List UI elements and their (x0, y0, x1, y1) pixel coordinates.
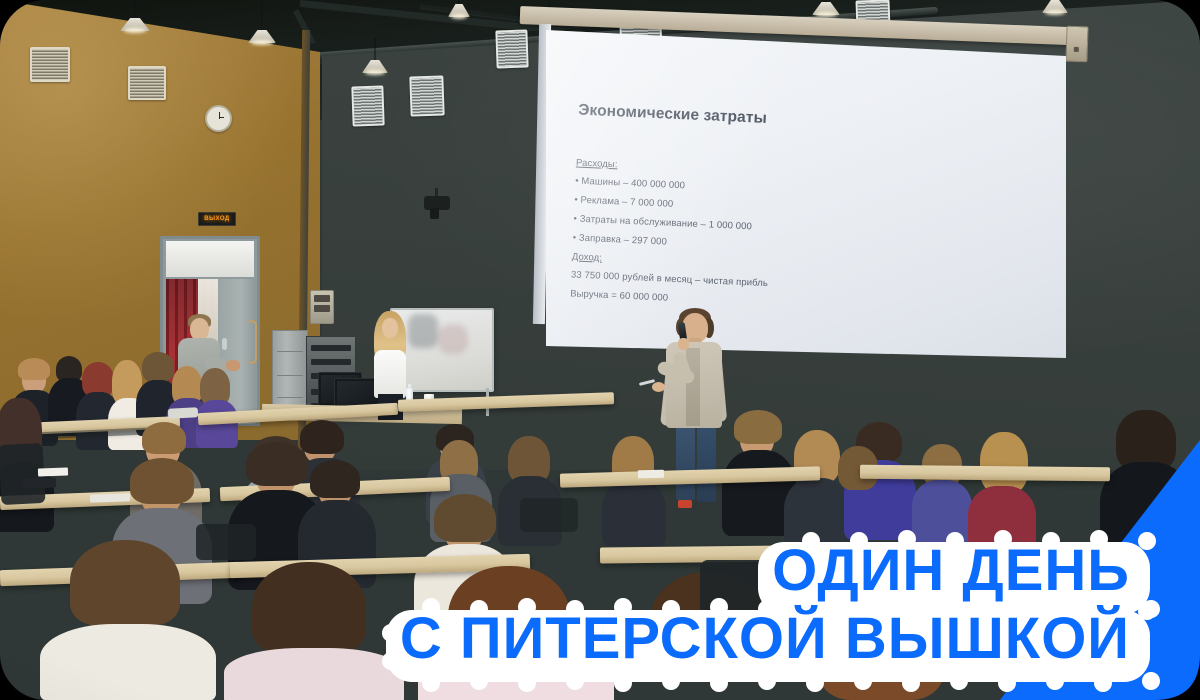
wall-vent-icon (128, 66, 166, 100)
marker-icon (678, 500, 692, 508)
wall-vent-icon (351, 85, 384, 126)
presenter-hand (678, 338, 689, 350)
wall-vent-icon (495, 29, 528, 68)
presenter-jacket-placket (686, 348, 700, 426)
wall-speaker-box (310, 290, 334, 324)
door-pull-bar[interactable] (247, 320, 257, 364)
seat-back (196, 524, 256, 560)
ceiling-projector-icon (424, 196, 450, 210)
presenter-leg (676, 420, 695, 500)
screen-roller-endcap (1065, 26, 1088, 63)
paper-sheet (90, 493, 130, 502)
slide-title: Экономические затраты (578, 102, 767, 128)
wall-clock-icon (205, 105, 232, 132)
slide-body: Расходы: • Машины – 400 000 000 • Реклам… (570, 157, 996, 326)
wall-vent-icon (30, 47, 70, 82)
door-handle-icon[interactable] (222, 338, 227, 350)
presenter-hand (652, 382, 665, 392)
screenshot-root: ВЫХОД Экономические затраты Расходы: • М… (0, 0, 1200, 700)
paper-sheet (638, 470, 664, 478)
slide-content: Экономические затраты Расходы: • Машины … (531, 28, 1065, 381)
seat-back (700, 560, 810, 620)
photo-frame: ВЫХОД Экономические затраты Расходы: • М… (0, 0, 1200, 700)
seat-back (520, 498, 578, 532)
standing-student-hand (226, 360, 240, 371)
seat-back (904, 548, 1024, 604)
paper-sheet (38, 467, 68, 476)
exit-sign-label: ВЫХОД (204, 216, 229, 222)
phone-icon (22, 477, 56, 488)
wall-vent-icon (409, 75, 444, 116)
lecture-desk (860, 465, 1110, 482)
exit-sign: ВЫХОД (198, 212, 236, 226)
laptop-closed (168, 407, 198, 419)
door-transom-window (166, 241, 254, 277)
whiteboard-student-body (374, 350, 406, 398)
whiteboard-student-face (382, 318, 398, 338)
presenter-leg (697, 420, 716, 502)
